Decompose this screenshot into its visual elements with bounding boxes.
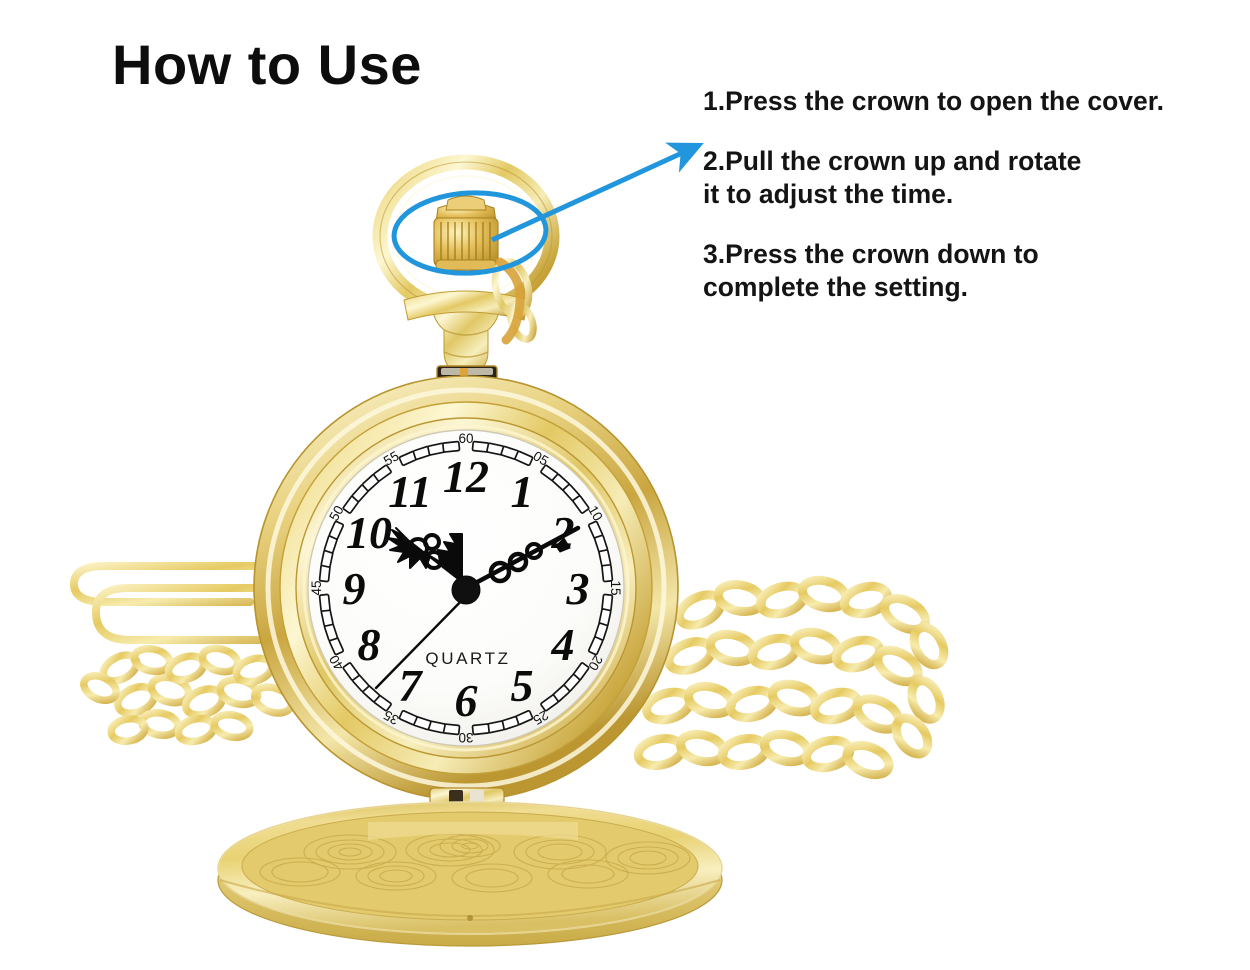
hour-numeral-3: 3 (566, 563, 590, 614)
minute-number-15: 15 (608, 580, 623, 595)
minute-tick (602, 565, 613, 582)
minute-number-60: 60 (458, 431, 473, 446)
minute-number-45: 45 (309, 580, 324, 595)
engraved-cover (218, 802, 722, 946)
hour-numeral-9: 9 (343, 563, 366, 614)
hands-center-cap (452, 576, 480, 604)
page-root: How to Use 1.Press the crown to open the… (0, 0, 1250, 970)
hour-numeral-12: 12 (443, 451, 489, 502)
hour-numeral-8: 8 (358, 619, 381, 670)
hour-numeral-7: 7 (399, 660, 424, 711)
brand-label: QUARTZ (425, 649, 510, 668)
hour-numeral-4: 4 (551, 619, 575, 670)
minute-tick (319, 594, 330, 611)
winding-crown[interactable] (434, 196, 498, 270)
minute-number-30: 30 (458, 730, 473, 745)
hour-numeral-6: 6 (455, 675, 478, 726)
watch-case: 600510152025303540455055 123456789101112… (236, 366, 696, 825)
hour-numeral-10: 10 (346, 507, 392, 558)
hour-numeral-1: 1 (511, 466, 534, 517)
hour-numeral-5: 5 (511, 660, 534, 711)
pocket-watch-illustration: 600510152025303540455055 123456789101112… (0, 0, 1250, 970)
hour-numeral-11: 11 (388, 466, 431, 517)
